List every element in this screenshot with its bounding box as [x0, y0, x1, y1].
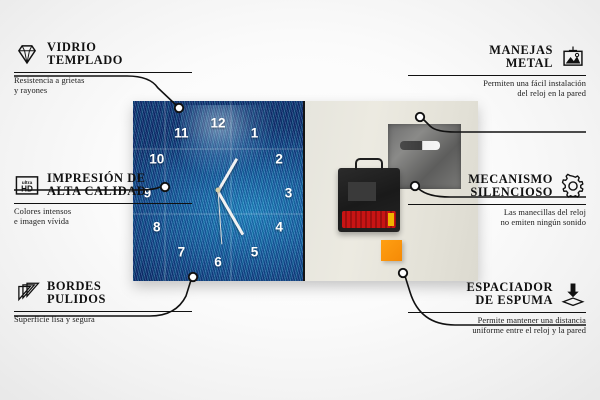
feature-vidrio-templado: VIDRIO TEMPLADO Resistencia a grietas y …: [14, 41, 192, 96]
mechanism-hook: [355, 158, 382, 170]
feature-description: Permite mantener una distancia uniforme …: [408, 316, 586, 336]
feature-bordes-pulidos: BORDES PULIDOS Superficie lisa y segura: [14, 280, 192, 325]
divider: [408, 312, 586, 313]
feature-mecanismo-silencioso: MECANISMO SILENCIOSO Las manecillas del …: [408, 173, 586, 228]
gear-icon: [560, 173, 586, 199]
clock-numeral-4: 4: [275, 220, 283, 234]
clock-center-pin: [216, 188, 221, 193]
feature-description: Permiten una fácil instalación del reloj…: [408, 79, 586, 99]
divider: [408, 204, 586, 205]
feature-description: Colores intensos e imagen vívida: [14, 207, 192, 227]
pattern-line-h1: [133, 148, 303, 150]
clock-numeral-11: 11: [174, 126, 188, 140]
foam-spacer: [381, 240, 402, 262]
feature-impresion-alta-calidad: ultra HD IMPRESIÓN DE ALTA CALIDAD Color…: [14, 172, 192, 227]
feature-description: Las manecillas del reloj no emiten ningú…: [408, 208, 586, 228]
infographic-canvas: 12 1 2 3 4 5 6 7 8 9 10 11: [0, 0, 600, 400]
polished-edges-icon: [14, 280, 40, 306]
clock-numeral-2: 2: [275, 152, 283, 166]
clock-numeral-5: 5: [251, 245, 259, 259]
hanger-slot: [400, 141, 441, 150]
clock-numeral-1: 1: [251, 126, 259, 140]
divider: [14, 72, 192, 73]
feature-description: Superficie lisa y segura: [14, 315, 192, 325]
clock-numeral-6: 6: [214, 255, 222, 269]
divider: [14, 311, 192, 312]
pattern-line-v2: [230, 101, 232, 281]
feature-title: VIDRIO TEMPLADO: [47, 41, 123, 68]
feature-title: MECANISMO SILENCIOSO: [468, 173, 553, 200]
diamond-icon: [14, 41, 40, 67]
clock-mechanism: [338, 168, 400, 233]
battery: [342, 211, 397, 228]
arrow-down-stack-icon: [560, 281, 586, 307]
mechanism-body: [348, 182, 377, 201]
feature-title: MANEJAS METAL: [489, 44, 553, 71]
feature-espaciador-espuma: ESPACIADOR DE ESPUMA Permite mantener un…: [408, 281, 586, 336]
clock-numeral-7: 7: [178, 245, 186, 259]
feature-title: BORDES PULIDOS: [47, 280, 106, 307]
ultra-hd-icon: ultra HD: [14, 172, 40, 198]
clock-numeral-3: 3: [285, 186, 293, 200]
divider: [408, 75, 586, 76]
picture-frame-icon: [560, 44, 586, 70]
clock-numeral-12: 12: [210, 116, 225, 130]
svg-text:HD: HD: [21, 185, 33, 194]
feature-title: IMPRESIÓN DE ALTA CALIDAD: [47, 172, 146, 199]
clock-numeral-10: 10: [149, 152, 164, 166]
feature-title: ESPACIADOR DE ESPUMA: [466, 281, 553, 308]
divider: [14, 203, 192, 204]
feature-manejas-metal: MANEJAS METAL Permiten una fácil instala…: [408, 44, 586, 99]
feature-description: Resistencia a grietas y rayones: [14, 76, 192, 96]
